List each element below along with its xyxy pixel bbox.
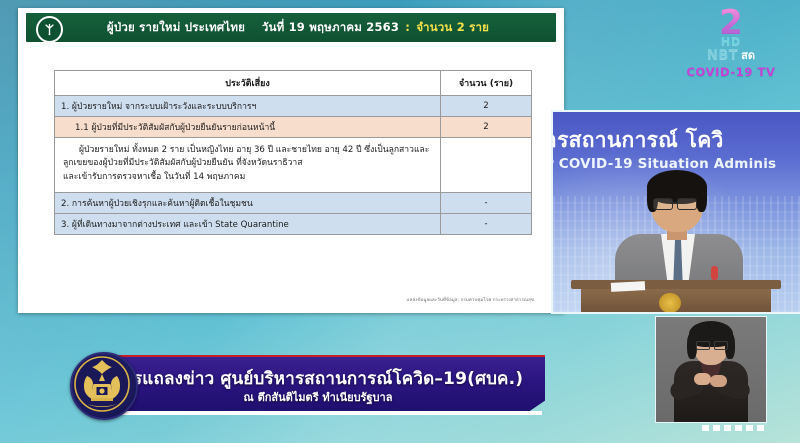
presentation-slide: ผู้ป่วย รายใหม่ ประเทศไทย วันที่ 19 พฤษภ… [18, 8, 564, 313]
risk-history-table: ประวัติเสี่ยง จำนวน (ราย) 1. ผู้ป่วยรายใ… [54, 70, 532, 235]
glasses-right-lens-icon [677, 198, 697, 210]
table-header-row: ประวัติเสี่ยง จำนวน (ราย) [55, 71, 532, 96]
dot-marker [757, 425, 764, 431]
row-count: - [441, 192, 532, 213]
table-row: 1.1 ผู้ป่วยที่มีประวัติสัมผัสกับผู้ป่วยย… [55, 117, 532, 138]
banner-bottom-stripe [90, 411, 542, 415]
spokesperson-lapel-pin [711, 266, 718, 280]
slide-source-note: แหล่งข้อมูลและวันที่ข้อมูล: กรมควบคุมโรค… [407, 296, 534, 303]
interpreter-left-hand [694, 373, 711, 385]
column-header-risk-history: ประวัติเสี่ยง [55, 71, 441, 96]
spokesperson-hair-right [696, 182, 707, 212]
channel-name: NBT [707, 48, 738, 63]
dot-marker [746, 425, 753, 431]
detail-paragraph: ผู้ป่วยรายใหม่ ทั้งหมด 2 ราย เป็นหญิงไทย… [55, 138, 441, 193]
column-header-count: จำนวน (ราย) [441, 71, 532, 96]
channel-name-row: NBT สด [676, 46, 786, 64]
dot-marker [702, 425, 709, 431]
backdrop-title-thai: ารสถานการณ์ โควิ [551, 124, 800, 157]
table-row: 2. การค้นหาผู้ป่วยเชิงรุกและค้นหาผู้ติดเ… [55, 192, 532, 213]
slide-title: ผู้ป่วย รายใหม่ ประเทศไทย วันที่ 19 พฤษภ… [26, 19, 556, 37]
detail-line: ผู้ป่วยรายใหม่ ทั้งหมด 2 ราย เป็นหญิงไทย… [63, 144, 432, 157]
table-detail-row: ผู้ป่วยรายใหม่ ทั้งหมด 2 ราย เป็นหญิงไทย… [55, 138, 532, 193]
interpreter-glasses-right-icon [714, 341, 728, 350]
detail-count [441, 138, 532, 193]
interpreter-glasses-left-icon [696, 341, 710, 350]
table-row: 3. ผู้ที่เดินทางมาจากต่างประเทศ และเข้า … [55, 213, 532, 234]
podium-top [571, 280, 781, 289]
banner-subtitle: ณ ตึกสันติไมตรี ทำเนียบรัฐบาล [98, 388, 538, 406]
row-label: 3. ผู้ที่เดินทางมาจากต่างประเทศ และเข้า … [55, 213, 441, 234]
dot-marker [735, 425, 742, 431]
press-conference-video[interactable]: ารสถานการณ์ โควิ r COVID-19 Situation Ad… [551, 110, 800, 314]
ministry-of-public-health-icon [36, 16, 63, 43]
glasses-bridge-icon [671, 202, 677, 204]
royal-thai-government-seal-icon [70, 352, 138, 420]
broadcast-screen: ผู้ป่วย รายใหม่ ประเทศไทย วันที่ 19 พฤษภ… [0, 0, 800, 443]
corner-dot-markers [702, 425, 764, 431]
row-count: 2 [441, 96, 532, 117]
podium [571, 280, 781, 314]
detail-line: ลูกเขยของผู้ป่วยที่มีประวัติสัมผัสกับผู้… [63, 157, 432, 170]
podium-garuda-emblem-icon [659, 293, 681, 313]
row-count: 2 [441, 117, 532, 138]
podium-papers [611, 281, 645, 292]
live-badge: สด [741, 46, 755, 64]
row-label: 1.1 ผู้ป่วยที่มีประวัติสัมผัสกับผู้ป่วยย… [55, 117, 441, 138]
slide-title-separator: : [403, 20, 412, 34]
channel-logo: 2 HD NBT สด COVID-19 TV [676, 8, 786, 79]
slide-title-count: จำนวน 2 ราย [416, 20, 489, 34]
row-count: - [441, 213, 532, 234]
row-label: 2. การค้นหาผู้ป่วยเชิงรุกและค้นหาผู้ติดเ… [55, 192, 441, 213]
sign-language-interpreter-video[interactable] [655, 316, 767, 423]
lower-third-banner: การแถลงข่าว ศูนย์บริหารสถานการณ์โควิด–19… [28, 355, 573, 417]
interpreter-right-hand [710, 375, 727, 387]
channel-number: 2 [676, 8, 786, 38]
detail-line: และเข้ารับการตรวจหาเชื้อ ในวันที่ 14 พฤษ… [63, 171, 432, 184]
slide-title-bar: ผู้ป่วย รายใหม่ ประเทศไทย วันที่ 19 พฤษภ… [26, 13, 556, 42]
program-label: COVID-19 TV [676, 65, 786, 79]
slide-title-date: วันที่ 19 พฤษภาคม 2563 [262, 20, 399, 34]
slide-title-main: ผู้ป่วย รายใหม่ ประเทศไทย [107, 20, 245, 34]
dot-marker [724, 425, 731, 431]
row-label: 1. ผู้ป่วยรายใหม่ จากระบบเฝ้าระวังและระบ… [55, 96, 441, 117]
table-row: 1. ผู้ป่วยรายใหม่ จากระบบเฝ้าระวังและระบ… [55, 96, 532, 117]
glasses-left-lens-icon [653, 198, 673, 210]
dot-marker [713, 425, 720, 431]
